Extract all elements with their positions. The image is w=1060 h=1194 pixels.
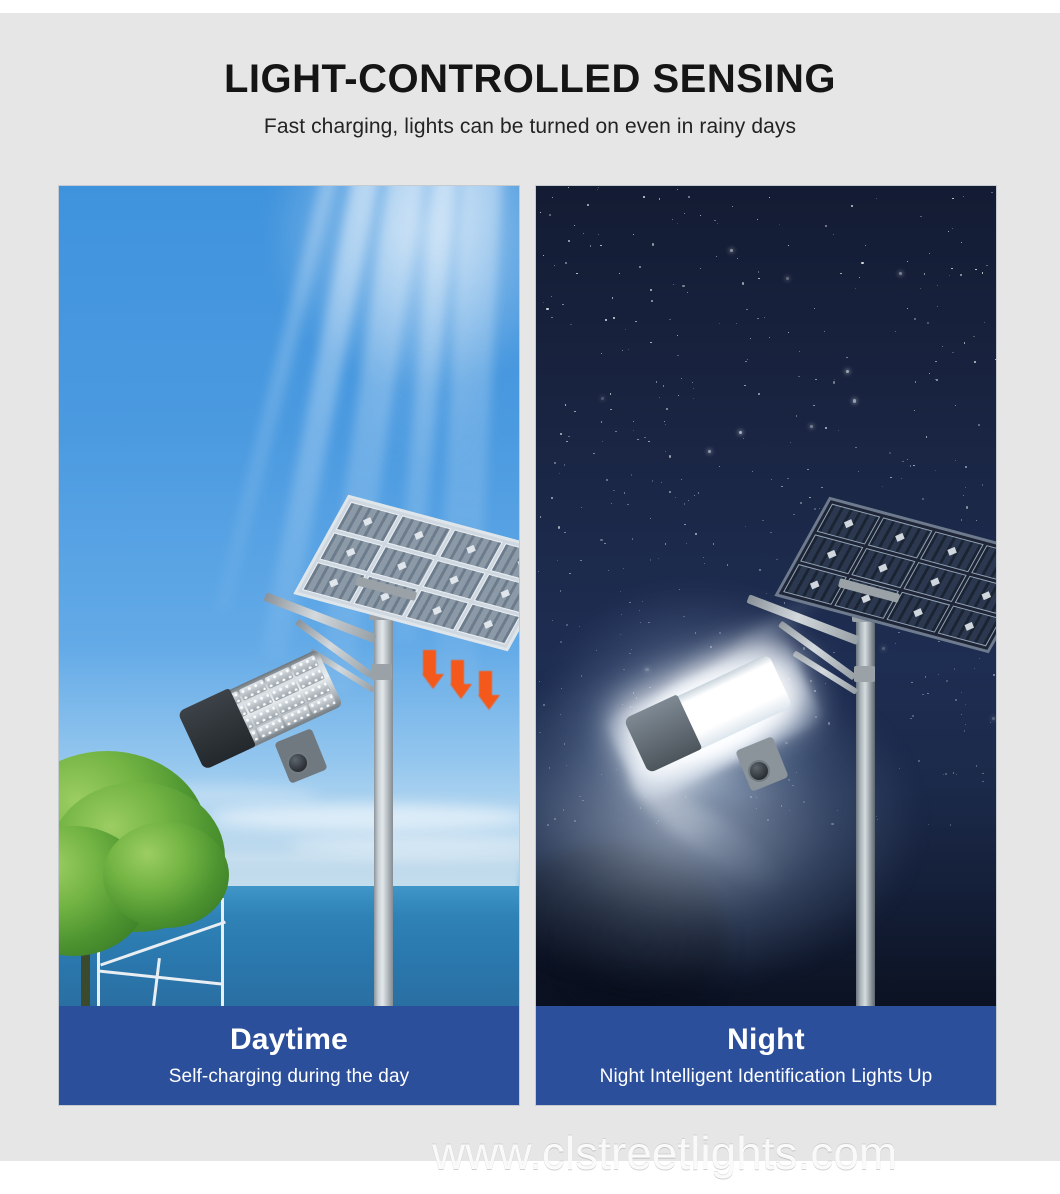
star — [882, 647, 885, 650]
star — [815, 379, 816, 380]
star — [846, 370, 849, 373]
star — [963, 495, 964, 496]
star — [598, 234, 599, 235]
star — [635, 321, 636, 322]
star — [625, 329, 626, 330]
star — [665, 451, 666, 452]
star — [925, 676, 926, 677]
star — [889, 452, 891, 454]
star — [861, 262, 863, 264]
star — [914, 410, 915, 411]
star — [943, 774, 944, 775]
star — [855, 447, 856, 448]
star — [677, 189, 678, 190]
star — [560, 433, 561, 434]
star — [686, 543, 687, 544]
arrow-tip — [478, 695, 500, 710]
star — [911, 682, 912, 683]
star — [665, 543, 666, 544]
star — [565, 262, 567, 264]
star — [673, 284, 674, 285]
star — [979, 658, 980, 659]
star — [776, 559, 777, 560]
light-sensor — [287, 752, 309, 774]
star — [743, 438, 744, 439]
star — [975, 269, 976, 270]
product-feature-page: LIGHT-CONTROLLED SENSING Fast charging, … — [0, 0, 1060, 1194]
star — [920, 216, 921, 217]
star — [540, 212, 541, 213]
star — [568, 187, 569, 188]
star — [633, 234, 634, 235]
star — [658, 558, 659, 559]
star — [819, 508, 820, 509]
star — [995, 359, 996, 360]
star — [788, 332, 789, 333]
star — [700, 215, 701, 216]
night-photo — [536, 186, 996, 1006]
arrow-shaft — [423, 650, 436, 674]
star — [982, 773, 983, 774]
star — [935, 470, 936, 471]
star — [961, 714, 962, 715]
star — [758, 393, 759, 394]
star — [546, 308, 548, 310]
star — [927, 322, 928, 323]
star — [788, 245, 789, 246]
star — [695, 533, 696, 534]
star — [855, 288, 856, 289]
star — [669, 491, 671, 493]
star — [576, 273, 577, 274]
star — [681, 378, 682, 379]
star — [682, 285, 684, 287]
star — [744, 385, 745, 386]
star — [814, 508, 816, 510]
star — [937, 285, 938, 286]
star — [965, 724, 966, 725]
star — [813, 405, 814, 406]
star — [663, 385, 664, 386]
star — [986, 265, 987, 266]
star — [566, 441, 567, 442]
arrow-shaft — [479, 671, 492, 695]
star — [955, 405, 956, 406]
star — [764, 317, 765, 318]
star — [719, 323, 720, 324]
arrow-tip — [450, 684, 472, 699]
star — [907, 459, 908, 460]
star — [549, 214, 551, 216]
star — [938, 674, 939, 675]
star — [612, 297, 613, 298]
star — [633, 421, 634, 422]
star — [766, 593, 767, 594]
star — [952, 198, 953, 199]
star — [692, 382, 693, 383]
star — [687, 292, 688, 293]
star — [552, 620, 553, 621]
star — [694, 495, 695, 496]
star — [619, 273, 620, 274]
star — [598, 187, 599, 188]
star — [952, 228, 953, 229]
star — [610, 409, 611, 410]
star — [650, 289, 651, 290]
star — [992, 717, 995, 720]
star — [984, 322, 985, 323]
star — [739, 431, 742, 434]
star — [851, 205, 853, 207]
charging-arrow — [450, 660, 464, 699]
star — [601, 421, 602, 422]
star — [796, 415, 797, 416]
star — [623, 568, 624, 569]
star — [982, 781, 983, 782]
star — [543, 302, 544, 303]
star — [833, 652, 834, 653]
star — [684, 213, 685, 214]
star — [910, 465, 911, 466]
star — [562, 304, 563, 305]
star — [583, 233, 584, 234]
star — [938, 641, 939, 642]
star — [948, 231, 949, 232]
star — [677, 355, 678, 356]
tree-canopy — [103, 822, 229, 928]
star — [745, 361, 746, 362]
header-block: LIGHT-CONTROLLED SENSING Fast charging, … — [0, 58, 1060, 139]
star — [650, 342, 651, 343]
star — [627, 504, 628, 505]
star — [965, 487, 966, 488]
star — [652, 243, 654, 245]
star — [746, 309, 747, 310]
star — [552, 197, 553, 198]
pole-bracket — [854, 666, 875, 682]
star — [771, 479, 772, 480]
star — [693, 388, 694, 389]
star — [560, 641, 562, 643]
star — [650, 559, 651, 560]
star — [730, 249, 733, 252]
star — [688, 196, 690, 198]
pole-bracket — [371, 664, 392, 680]
star — [927, 693, 928, 694]
star — [834, 379, 835, 380]
star — [750, 338, 751, 339]
star — [784, 602, 785, 603]
star — [769, 337, 770, 338]
star — [737, 258, 738, 259]
star — [666, 408, 667, 409]
star — [912, 715, 913, 716]
star — [669, 319, 670, 320]
star — [651, 300, 653, 302]
star — [974, 361, 975, 362]
star — [742, 282, 744, 284]
star — [910, 718, 911, 719]
star — [926, 436, 927, 437]
star — [914, 318, 916, 320]
caption-title: Daytime — [230, 1023, 348, 1057]
star — [659, 397, 660, 398]
star — [581, 507, 582, 508]
star — [700, 268, 701, 269]
star — [543, 255, 544, 256]
caption-subtitle: Night Intelligent Identification Lights … — [600, 1066, 933, 1088]
star — [693, 398, 694, 399]
star — [956, 774, 957, 775]
star — [978, 424, 980, 426]
star — [622, 350, 623, 351]
star — [677, 335, 678, 336]
star — [946, 680, 947, 681]
star — [786, 277, 789, 280]
star — [929, 253, 930, 254]
page-title: LIGHT-CONTROLLED SENSING — [0, 58, 1060, 101]
star — [677, 223, 678, 224]
star — [942, 346, 943, 347]
star — [558, 526, 560, 528]
star — [633, 430, 634, 431]
star — [664, 421, 665, 422]
star — [613, 490, 614, 491]
star — [779, 224, 780, 225]
star — [684, 524, 685, 525]
star — [590, 245, 591, 246]
star — [643, 196, 644, 197]
pergola-frame — [221, 898, 224, 1006]
star — [798, 376, 799, 377]
star — [661, 482, 662, 483]
star — [608, 570, 609, 571]
star — [955, 460, 956, 461]
star — [757, 219, 758, 220]
star — [800, 502, 802, 504]
star — [922, 694, 923, 695]
star — [703, 557, 704, 558]
star — [557, 560, 558, 561]
star — [963, 196, 964, 197]
star — [644, 437, 645, 438]
star — [727, 564, 728, 565]
cloud — [209, 804, 519, 830]
star — [825, 427, 826, 428]
star — [568, 436, 569, 437]
star — [935, 361, 936, 362]
star — [551, 317, 552, 318]
daytime-photo — [59, 186, 519, 1006]
star — [597, 189, 598, 190]
star — [659, 198, 660, 199]
star — [601, 397, 604, 400]
star — [678, 395, 679, 396]
star — [965, 704, 966, 705]
star — [669, 455, 671, 457]
star — [568, 240, 569, 241]
star — [564, 464, 565, 465]
star — [899, 272, 902, 275]
star — [554, 462, 555, 463]
star — [907, 308, 908, 309]
star — [624, 492, 625, 493]
star — [960, 274, 962, 276]
star — [564, 532, 565, 533]
star — [961, 242, 962, 243]
star — [807, 469, 808, 470]
star — [539, 681, 540, 682]
star — [814, 308, 815, 309]
star — [907, 261, 908, 262]
star — [569, 573, 570, 574]
star — [937, 306, 938, 307]
star — [982, 272, 983, 273]
star — [901, 478, 902, 479]
star — [810, 425, 813, 428]
star — [574, 225, 575, 226]
star — [593, 453, 594, 454]
star — [949, 275, 950, 276]
star — [902, 461, 903, 462]
star — [587, 204, 588, 205]
star — [665, 424, 666, 425]
star — [858, 471, 859, 472]
star — [600, 539, 602, 541]
star — [675, 497, 676, 498]
star — [601, 353, 602, 354]
star — [918, 760, 920, 762]
star — [961, 692, 962, 693]
star — [961, 519, 962, 520]
star — [757, 318, 758, 319]
star — [890, 477, 891, 478]
star — [790, 442, 791, 443]
star — [966, 506, 968, 508]
star — [745, 526, 746, 527]
star — [551, 497, 552, 498]
star — [620, 591, 621, 592]
feature-card-daytime[interactable]: Daytime Self-charging during the day — [59, 186, 519, 1105]
star — [652, 480, 653, 481]
star — [993, 674, 994, 675]
star — [964, 342, 965, 343]
star — [833, 381, 835, 383]
star — [895, 331, 896, 332]
star — [965, 466, 967, 468]
star — [656, 381, 657, 382]
star — [833, 234, 834, 235]
star — [688, 500, 689, 501]
star — [928, 824, 929, 825]
star — [799, 351, 800, 352]
page-subtitle: Fast charging, lights can be turned on e… — [0, 115, 1060, 139]
star — [717, 223, 718, 224]
star — [922, 498, 923, 499]
star — [976, 520, 977, 521]
star — [570, 324, 571, 325]
star — [560, 590, 561, 591]
star — [698, 492, 699, 493]
star — [580, 560, 581, 561]
star — [574, 411, 575, 412]
star — [736, 323, 737, 324]
light-sensor — [748, 760, 770, 782]
charging-arrow — [478, 671, 492, 710]
star — [859, 277, 860, 278]
star — [613, 317, 614, 318]
star — [770, 532, 771, 533]
caption-title: Night — [727, 1023, 805, 1057]
star — [554, 265, 555, 266]
star — [945, 773, 946, 774]
star — [611, 503, 612, 504]
star — [781, 486, 782, 487]
star — [950, 824, 951, 825]
star — [704, 563, 705, 564]
star — [954, 668, 955, 669]
star — [713, 543, 714, 544]
star — [758, 271, 759, 272]
star — [566, 624, 568, 626]
star — [632, 538, 633, 539]
star — [606, 479, 607, 480]
caption-subtitle: Self-charging during the day — [169, 1066, 409, 1088]
star — [600, 245, 601, 246]
star — [681, 479, 682, 480]
star — [953, 772, 954, 773]
star — [974, 668, 975, 669]
star — [990, 722, 991, 723]
star — [991, 192, 992, 193]
star — [853, 399, 856, 402]
star — [895, 643, 896, 644]
star — [787, 478, 788, 479]
star — [769, 197, 770, 198]
star — [540, 516, 541, 517]
star — [628, 349, 629, 350]
star — [732, 206, 733, 207]
star — [684, 503, 685, 504]
star — [615, 431, 616, 432]
star — [762, 520, 763, 521]
star — [758, 278, 759, 279]
star — [752, 471, 753, 472]
star — [976, 765, 977, 766]
star — [964, 730, 965, 731]
star — [708, 450, 711, 453]
star — [924, 273, 925, 274]
star — [719, 466, 720, 467]
star — [915, 381, 916, 382]
feature-card-night[interactable]: Night Night Intelligent Identification L… — [536, 186, 996, 1105]
star — [973, 336, 974, 337]
star — [882, 486, 883, 487]
star — [648, 441, 649, 442]
star — [747, 359, 748, 360]
star — [929, 373, 930, 374]
star — [898, 632, 899, 633]
star — [538, 571, 539, 572]
star — [605, 319, 606, 320]
star — [824, 331, 825, 332]
star — [637, 439, 638, 440]
star — [821, 487, 822, 488]
star — [639, 266, 641, 268]
star — [840, 273, 841, 274]
star — [913, 465, 914, 466]
star — [650, 518, 651, 519]
